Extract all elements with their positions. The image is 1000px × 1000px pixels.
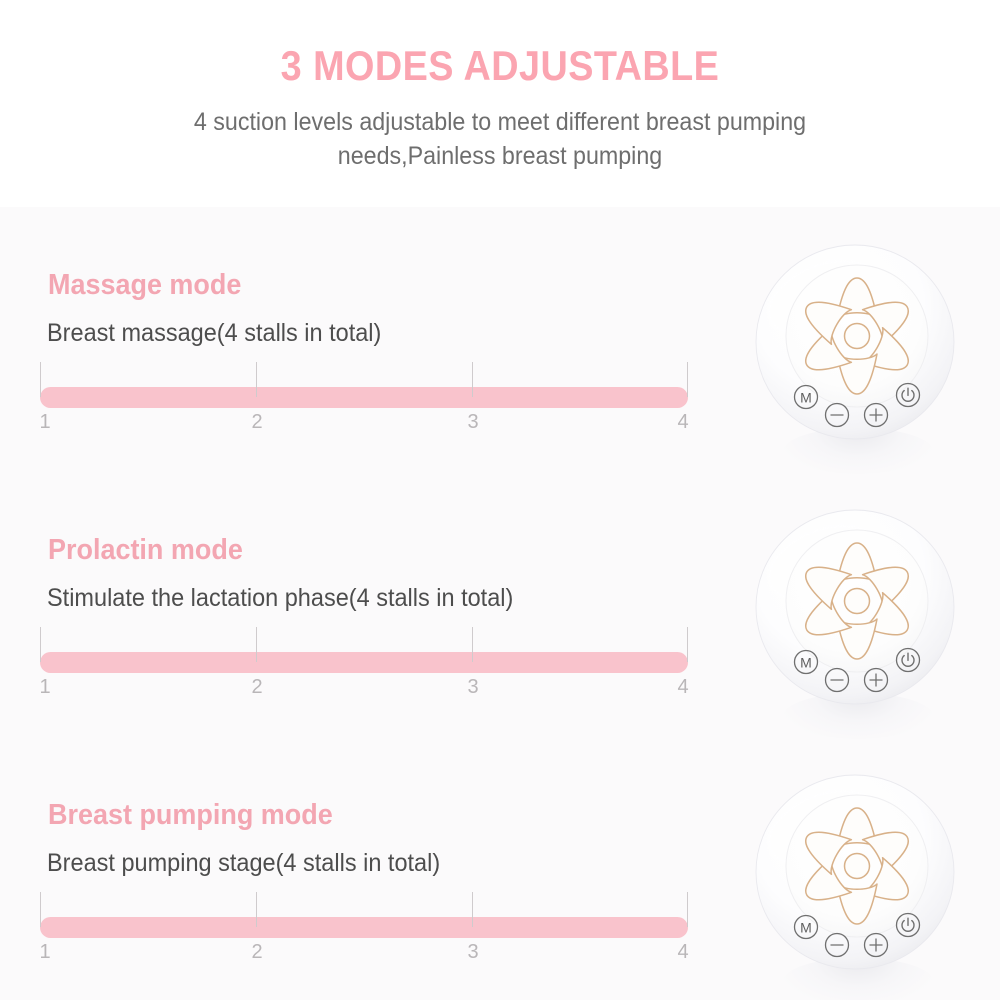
product-image-breast-pumping: M <box>735 762 985 1000</box>
slider-tick-4 <box>687 362 688 397</box>
suction-level-slider[interactable]: 1 2 3 4 <box>40 362 688 450</box>
slider-track[interactable] <box>40 917 688 938</box>
slider-tick-3 <box>472 362 473 397</box>
slider-tick-2 <box>256 892 257 927</box>
slider-tick-label-1: 1 <box>30 412 60 432</box>
slider-track[interactable] <box>40 387 688 408</box>
mode-description: Stimulate the lactation phase(4 stalls i… <box>47 585 513 613</box>
breast-pump-device: M <box>753 505 958 710</box>
mode-title: Prolactin mode <box>48 535 243 567</box>
breast-pump-device: M <box>753 240 958 445</box>
slider-tick-4 <box>687 892 688 927</box>
suction-level-slider[interactable]: 1 2 3 4 <box>40 627 688 715</box>
slider-tick-1 <box>40 362 41 397</box>
product-image-prolactin: M <box>735 497 985 742</box>
breast-pump-device: M <box>753 770 958 975</box>
slider-tick-3 <box>472 627 473 662</box>
slider-tick-label-2: 2 <box>242 677 272 697</box>
slider-tick-3 <box>472 892 473 927</box>
slider-tick-label-3: 3 <box>458 677 488 697</box>
header-band: 3 MODES ADJUSTABLE 4 suction levels adju… <box>0 0 1000 207</box>
slider-tick-label-3: 3 <box>458 412 488 432</box>
page-title: 3 MODES ADJUSTABLE <box>50 44 950 88</box>
slider-tick-label-2: 2 <box>242 942 272 962</box>
flower-center <box>845 589 870 614</box>
mode-description: Breast massage(4 stalls in total) <box>47 320 381 348</box>
slider-tick-1 <box>40 627 41 662</box>
svg-text:M: M <box>800 390 812 406</box>
subtitle-line-2: needs,Painless breast pumping <box>35 142 965 171</box>
flower-center <box>845 324 870 349</box>
product-infographic: 3 MODES ADJUSTABLE 4 suction levels adju… <box>0 0 1000 1000</box>
flower-center <box>845 854 870 879</box>
slider-tick-label-1: 1 <box>30 942 60 962</box>
slider-tick-label-2: 2 <box>242 412 272 432</box>
suction-level-slider[interactable]: 1 2 3 4 <box>40 892 688 980</box>
slider-tick-2 <box>256 362 257 397</box>
slider-tick-label-4: 4 <box>668 677 698 697</box>
svg-text:M: M <box>800 920 812 936</box>
mode-row: Prolactin mode Stimulate the lactation p… <box>0 497 1000 742</box>
product-image-massage: M <box>735 232 985 477</box>
slider-tick-label-4: 4 <box>668 412 698 432</box>
slider-tick-label-1: 1 <box>30 677 60 697</box>
mode-row: Massage mode Breast massage(4 stalls in … <box>0 232 1000 477</box>
mode-title: Massage mode <box>48 270 241 302</box>
slider-tick-1 <box>40 892 41 927</box>
mode-description: Breast pumping stage(4 stalls in total) <box>47 850 440 878</box>
slider-tick-4 <box>687 627 688 662</box>
slider-tick-label-4: 4 <box>668 942 698 962</box>
svg-text:M: M <box>800 655 812 671</box>
slider-track[interactable] <box>40 652 688 673</box>
mode-row: Breast pumping mode Breast pumping stage… <box>0 762 1000 1000</box>
mode-title: Breast pumping mode <box>48 800 333 832</box>
slider-tick-2 <box>256 627 257 662</box>
modes-panel: Massage mode Breast massage(4 stalls in … <box>0 207 1000 1000</box>
slider-tick-label-3: 3 <box>458 942 488 962</box>
subtitle-line-1: 4 suction levels adjustable to meet diff… <box>35 108 965 137</box>
